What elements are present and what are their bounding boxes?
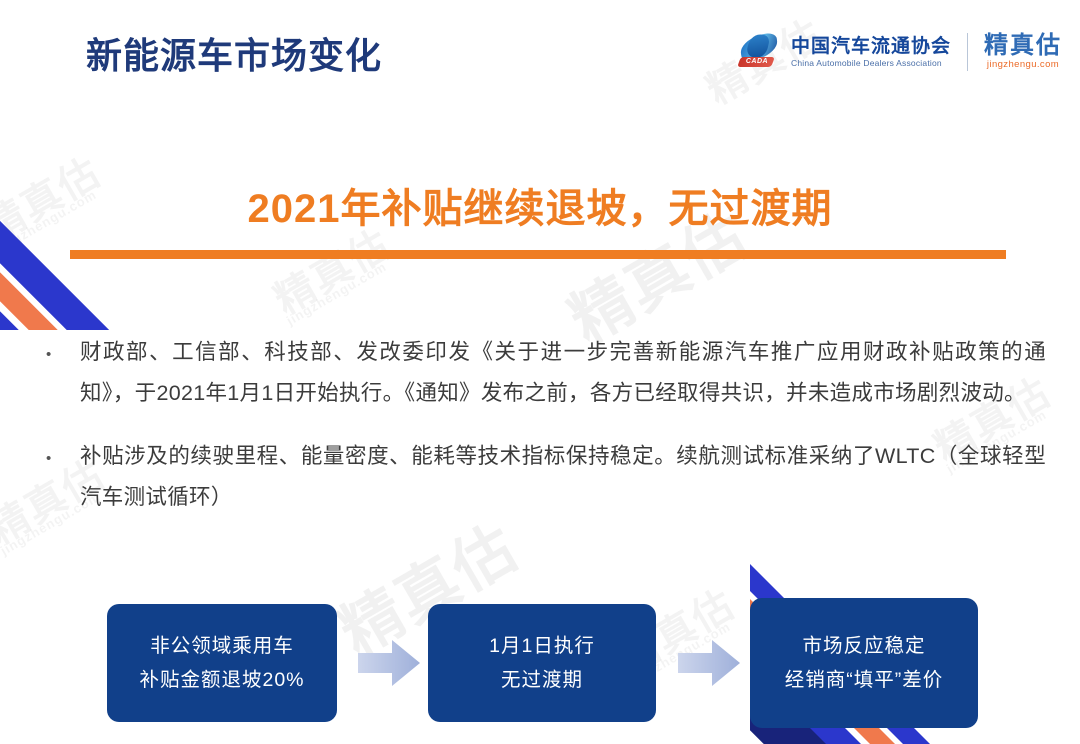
jingzhengu-name-cn: 精真估: [984, 33, 1062, 59]
arrow-right-icon: [358, 640, 420, 686]
flow-box-1-line2: 补贴金额退坡20%: [139, 663, 304, 697]
jingzhengu-name-en: jingzhengu.com: [984, 60, 1062, 70]
slide: 精真估 jingzhengu.com 精真估 jingzhengu.com 精真…: [0, 0, 1080, 744]
flow-box-2: 1月1日执行 无过渡期: [428, 604, 656, 722]
bullet-text: 补贴涉及的续驶里程、能量密度、能耗等技术指标保持稳定。续航测试标准采纳了WLTC…: [80, 436, 1046, 518]
flow-box-2-line1: 1月1日执行: [489, 629, 595, 663]
cada-swoosh-inner: [746, 32, 771, 60]
bullet-marker: •: [46, 436, 80, 466]
flow-box-3-line2: 经销商“填平”差价: [785, 663, 944, 697]
cada-acronym: CADA: [741, 58, 773, 65]
heading-underline: [70, 250, 1006, 259]
flow-diagram: 非公领域乘用车 补贴金额退坡20% 1月1日执行 无过渡期: [0, 598, 1080, 730]
flow-box-1: 非公领域乘用车 补贴金额退坡20%: [107, 604, 337, 722]
main-heading: 2021年补贴继续退坡，无过渡期: [0, 176, 1080, 234]
body-content: • 财政部、工信部、科技部、发改委印发《关于进一步完善新能源汽车推广应用财政补贴…: [46, 332, 1046, 539]
cada-emblem-icon: CADA: [738, 33, 784, 71]
bullet-marker: •: [46, 332, 80, 362]
flow-box-3: 市场反应稳定 经销商“填平”差价: [750, 598, 978, 728]
arrow-right-icon: [678, 640, 740, 686]
cada-logo: CADA 中国汽车流通协会 China Automobile Dealers A…: [738, 33, 951, 71]
jingzhengu-logo: 精真估 jingzhengu.com: [984, 33, 1062, 71]
bullet-item: • 补贴涉及的续驶里程、能量密度、能耗等技术指标保持稳定。续航测试标准采纳了WL…: [46, 436, 1046, 518]
cada-names: 中国汽车流通协会 China Automobile Dealers Associ…: [791, 36, 951, 69]
cada-name-en: China Automobile Dealers Association: [791, 59, 951, 69]
bullet-item: • 财政部、工信部、科技部、发改委印发《关于进一步完善新能源汽车推广应用财政补贴…: [46, 332, 1046, 414]
logo-divider: [967, 33, 968, 71]
flow-box-2-line2: 无过渡期: [501, 663, 583, 697]
logo-group: CADA 中国汽车流通协会 China Automobile Dealers A…: [738, 33, 1062, 71]
flow-box-3-line1: 市场反应稳定: [802, 629, 925, 663]
bullet-text: 财政部、工信部、科技部、发改委印发《关于进一步完善新能源汽车推广应用财政补贴政策…: [80, 332, 1046, 414]
cada-name-cn: 中国汽车流通协会: [791, 36, 951, 58]
watermark-domain: jingzhengu.com: [284, 259, 389, 328]
page-title: 新能源车市场变化: [86, 36, 382, 76]
slide-header: 新能源车市场变化 CADA 中国汽车流通协会 China Automobile …: [0, 0, 1080, 120]
flow-box-1-line1: 非公领域乘用车: [150, 629, 294, 663]
